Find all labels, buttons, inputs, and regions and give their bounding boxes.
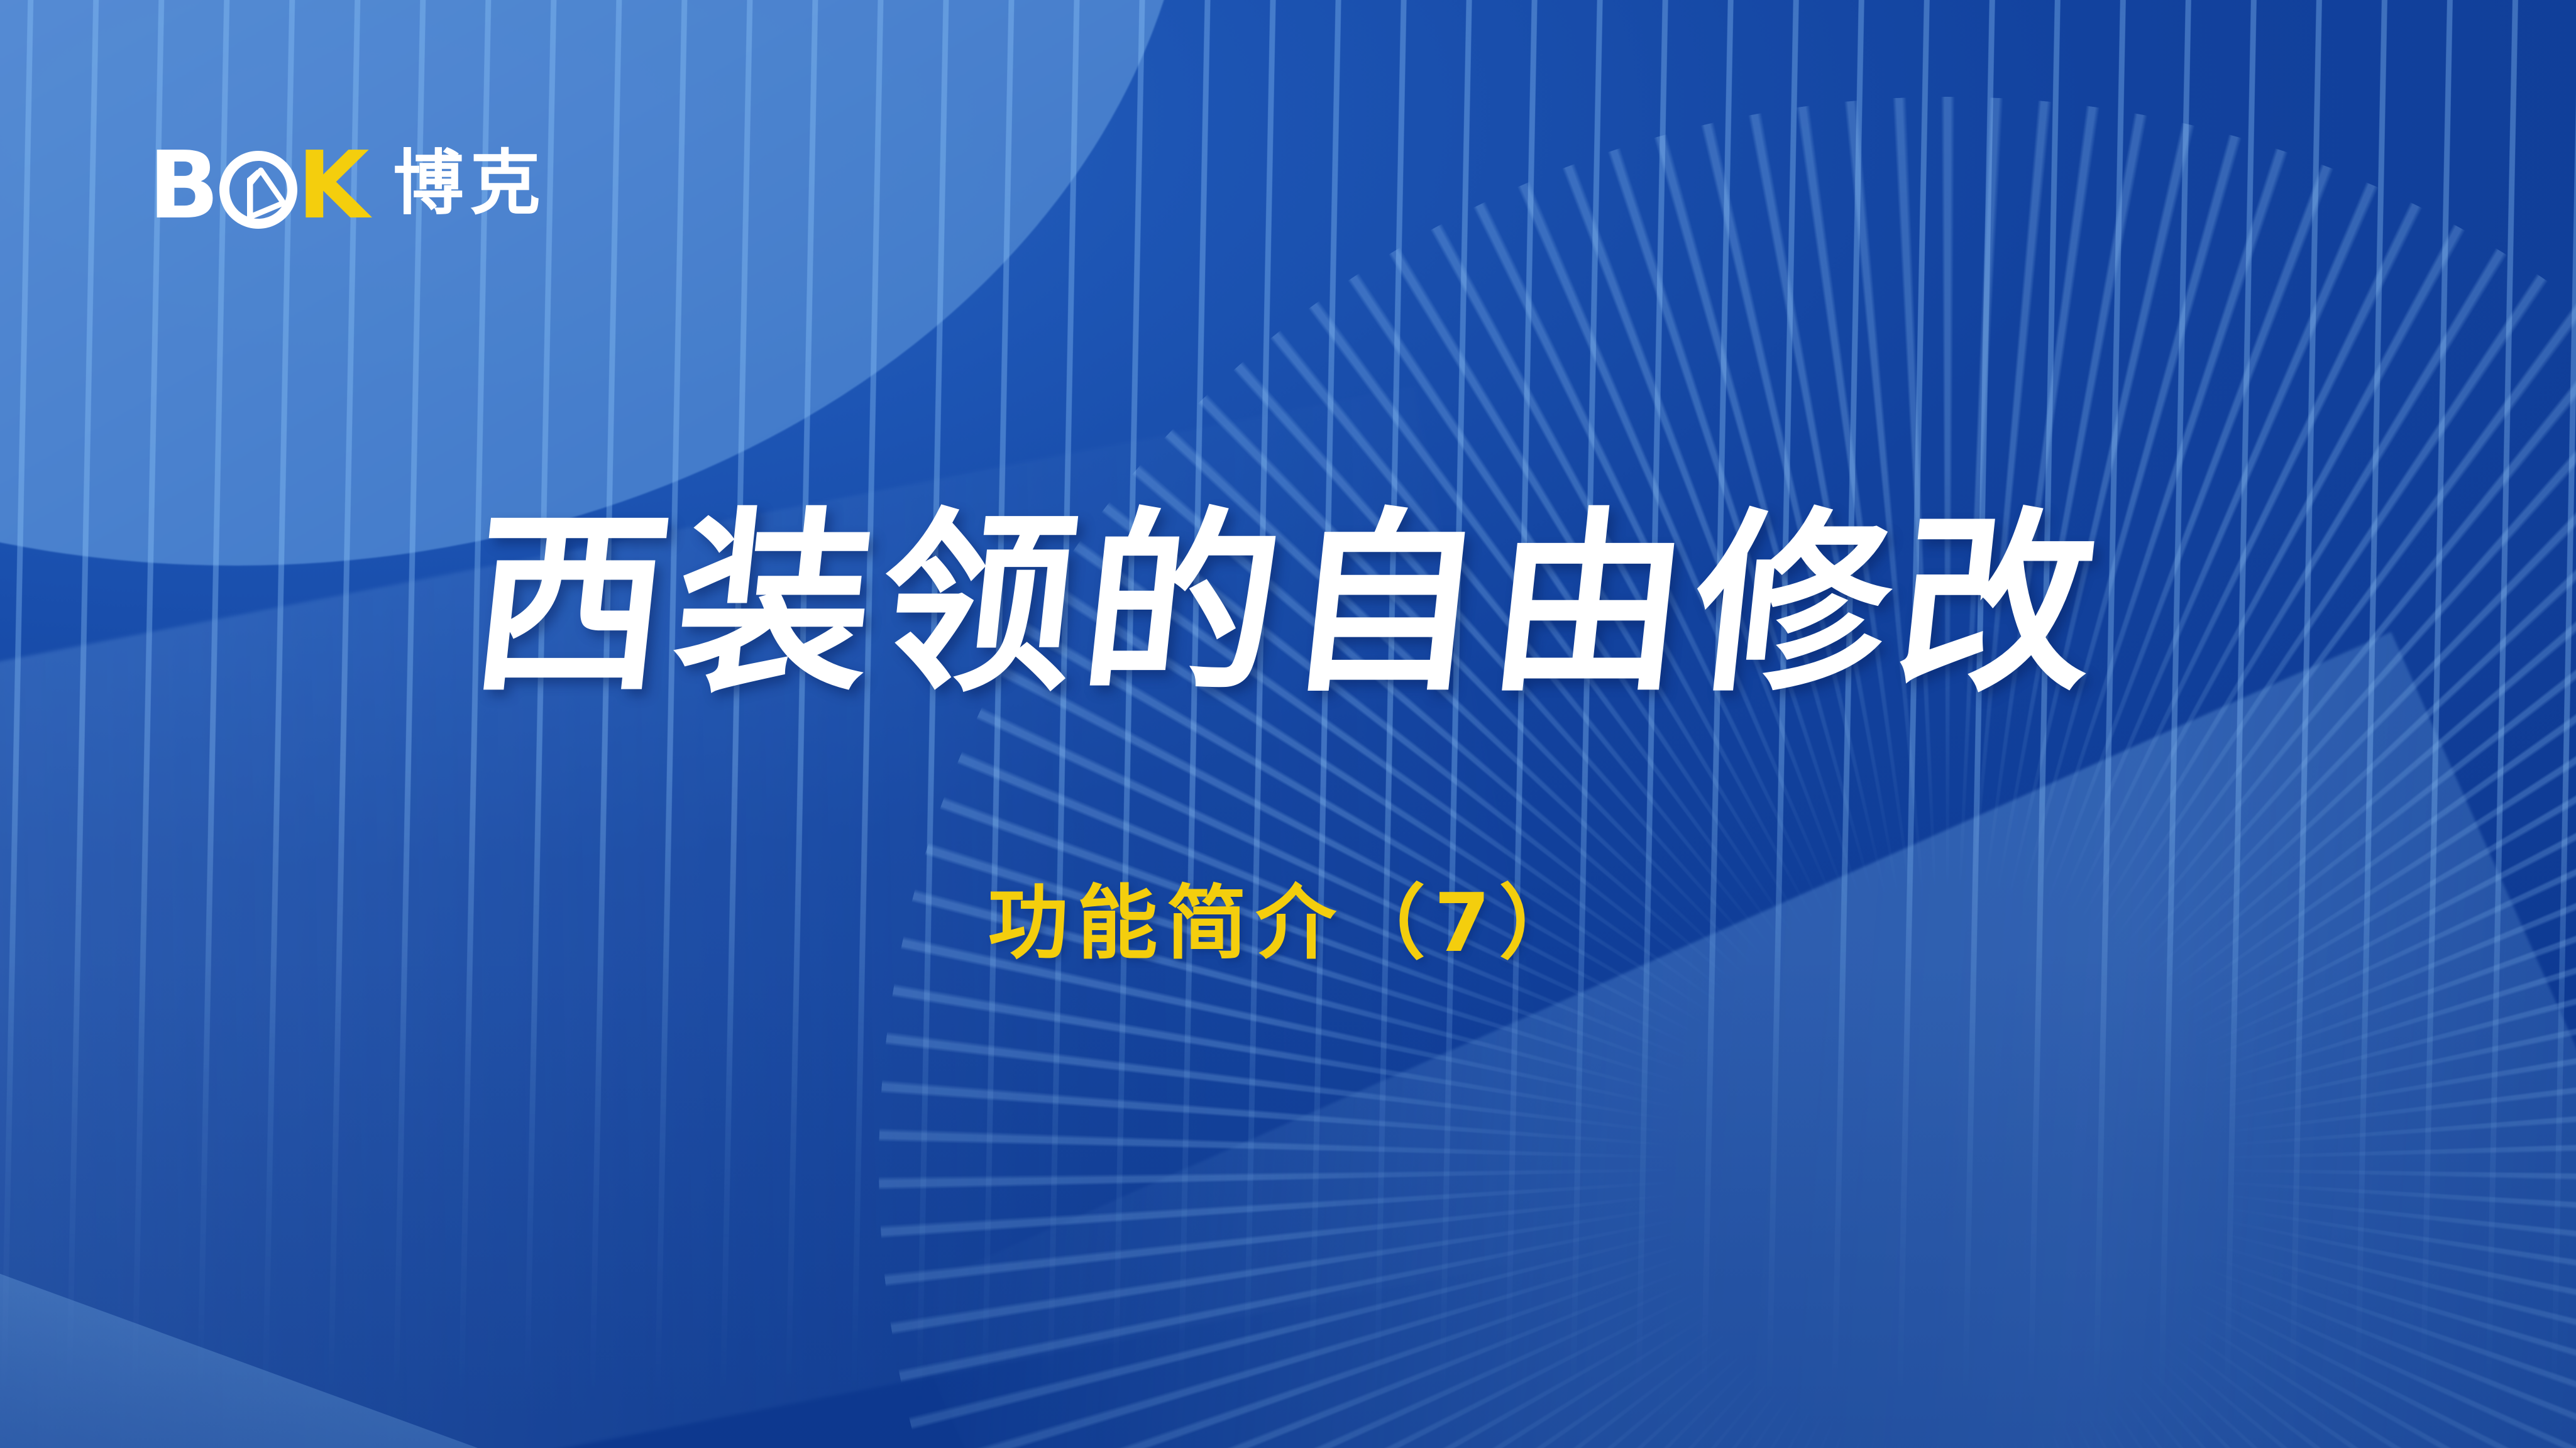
poster-slide: B K 博克 西装领的自由修改 功能简介（7） [0,0,2576,1448]
page-subtitle: 功能简介（7） [0,880,2576,968]
logo-chinese-name: 博克 [394,148,547,219]
logo-letter-b: B [148,148,218,224]
logo-letter-k: K [297,148,368,224]
brand-logo: B K 博克 [148,148,547,224]
logo-wordmark: B K [148,148,368,224]
play-cursor-circle-icon [219,151,297,229]
page-title: 西装领的自由修改 [0,503,2576,708]
page-subtitle-text: 功能简介（7） [988,880,1588,968]
page-title-text: 西装领的自由修改 [463,503,2113,708]
